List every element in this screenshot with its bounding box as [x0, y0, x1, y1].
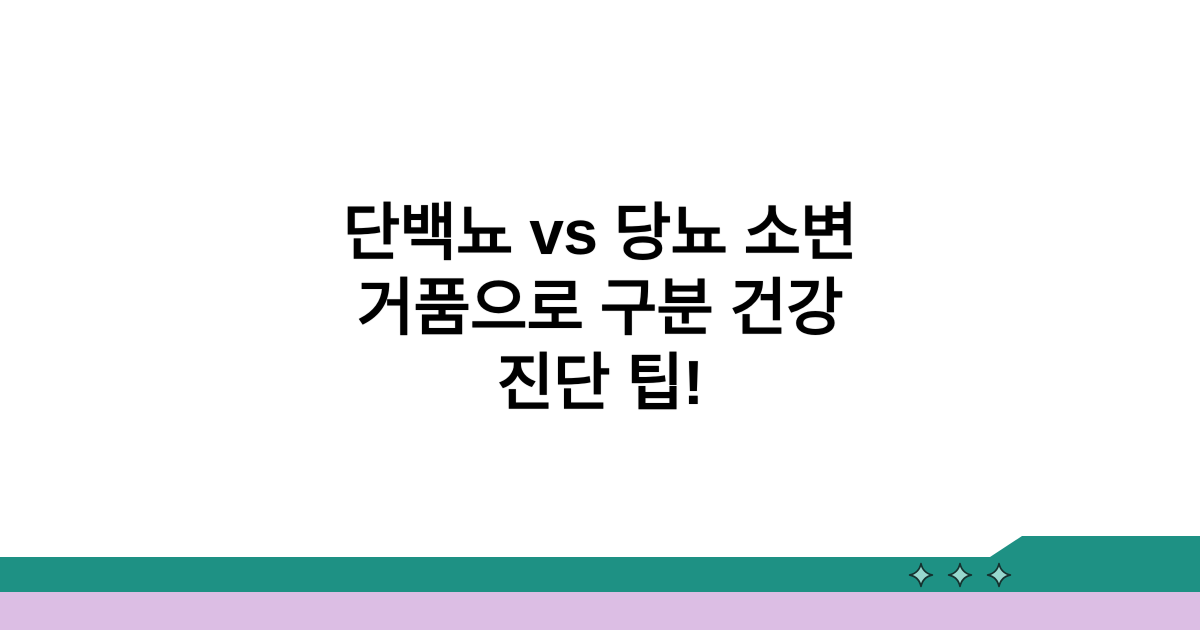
sparkle-icon — [986, 562, 1012, 588]
lavender-band — [0, 592, 1200, 630]
sparkle-icon — [908, 562, 934, 588]
sparkle-icon — [947, 562, 973, 588]
bottom-decoration-bands — [0, 520, 1200, 630]
title-line-3: 진단 팁! — [60, 346, 1140, 421]
banner-card: 단백뇨 vs 당뇨 소변 거품으로 구분 건강 진단 팁! — [0, 0, 1200, 630]
sparkle-decoration-row — [908, 560, 1012, 590]
title-line-2: 거품으로 구분 건강 — [60, 271, 1140, 346]
page-title: 단백뇨 vs 당뇨 소변 거품으로 구분 건강 진단 팁! — [0, 196, 1200, 421]
title-line-1: 단백뇨 vs 당뇨 소변 — [60, 196, 1140, 271]
